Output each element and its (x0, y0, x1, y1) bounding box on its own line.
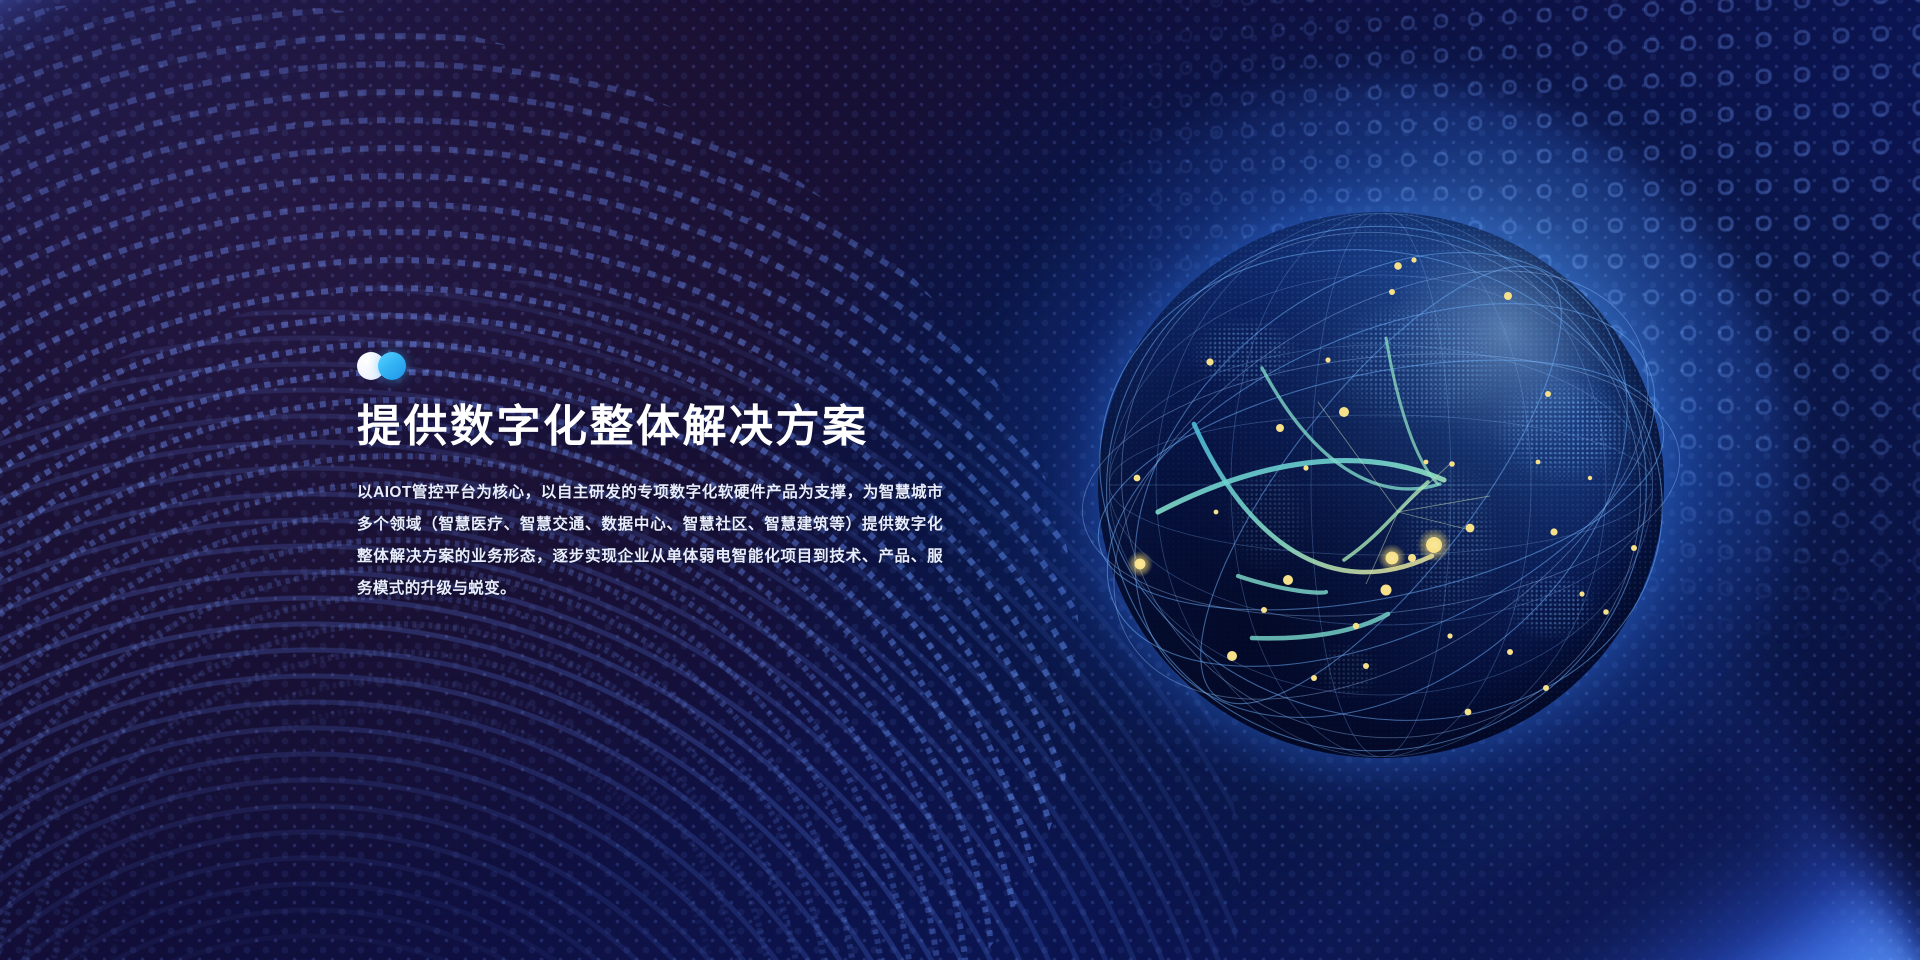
hero-description: 以AIOT管控平台为核心，以自主研发的专项数字化软硬件产品为支撑，为智慧城市多个… (357, 477, 943, 604)
two-dot-brand-mark-icon (357, 352, 409, 380)
digital-earth-globe (1098, 212, 1664, 758)
hero-text-block: 提供数字化整体解决方案 以AIOT管控平台为核心，以自主研发的专项数字化软硬件产… (357, 352, 957, 604)
globe-network-overlay (1098, 212, 1664, 758)
brand-dot-blue-icon (378, 352, 406, 380)
page-title: 提供数字化整体解决方案 (357, 402, 957, 451)
hero-banner: 提供数字化整体解决方案 以AIOT管控平台为核心，以自主研发的专项数字化软硬件产… (0, 0, 1920, 960)
